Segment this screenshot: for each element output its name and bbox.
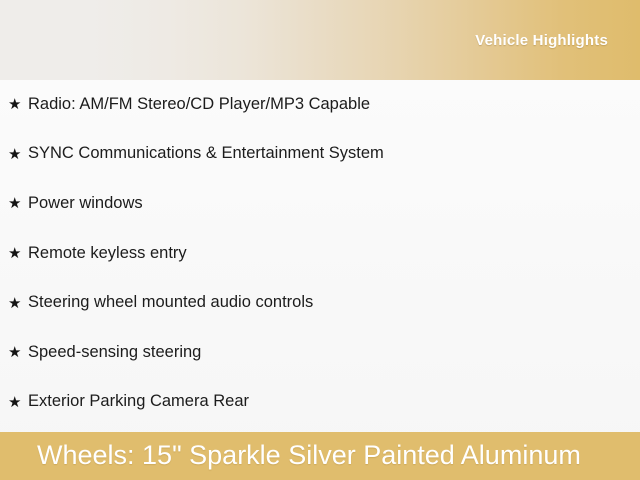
list-item: ★ Steering wheel mounted audio controls (0, 278, 640, 328)
star-bullet-icon: ★ (8, 296, 28, 311)
vehicle-highlights-list: ★ Radio: AM/FM Stereo/CD Player/MP3 Capa… (0, 80, 640, 432)
footer-banner: Wheels: 15" Sparkle Silver Painted Alumi… (0, 432, 640, 480)
list-item-label: Remote keyless entry (28, 244, 187, 264)
star-bullet-icon: ★ (8, 196, 28, 211)
list-item-label: Speed-sensing steering (28, 343, 201, 363)
list-item-label: Exterior Parking Camera Rear (28, 392, 249, 412)
list-item: ★ Speed-sensing steering (0, 328, 640, 378)
list-item-label: Power windows (28, 194, 143, 214)
footer-title: Wheels: 15" Sparkle Silver Painted Alumi… (37, 441, 581, 471)
page-title: Vehicle Highlights (475, 32, 608, 49)
vehicle-highlights-page: Vehicle Highlights ★ Radio: AM/FM Stereo… (0, 0, 640, 480)
list-item: ★ SYNC Communications & Entertainment Sy… (0, 130, 640, 180)
list-item-label: Steering wheel mounted audio controls (28, 293, 313, 313)
list-item: ★ Exterior Parking Camera Rear (0, 378, 640, 428)
list-item-label: Radio: AM/FM Stereo/CD Player/MP3 Capabl… (28, 95, 370, 115)
star-bullet-icon: ★ (8, 345, 28, 360)
header-banner: Vehicle Highlights (0, 0, 640, 80)
star-bullet-icon: ★ (8, 97, 28, 112)
list-item: ★ Remote keyless entry (0, 229, 640, 279)
star-bullet-icon: ★ (8, 147, 28, 162)
list-item-label: SYNC Communications & Entertainment Syst… (28, 144, 384, 164)
list-item: ★ Power windows (0, 179, 640, 229)
star-bullet-icon: ★ (8, 246, 28, 261)
list-item: ★ Radio: AM/FM Stereo/CD Player/MP3 Capa… (0, 80, 640, 130)
star-bullet-icon: ★ (8, 395, 28, 410)
